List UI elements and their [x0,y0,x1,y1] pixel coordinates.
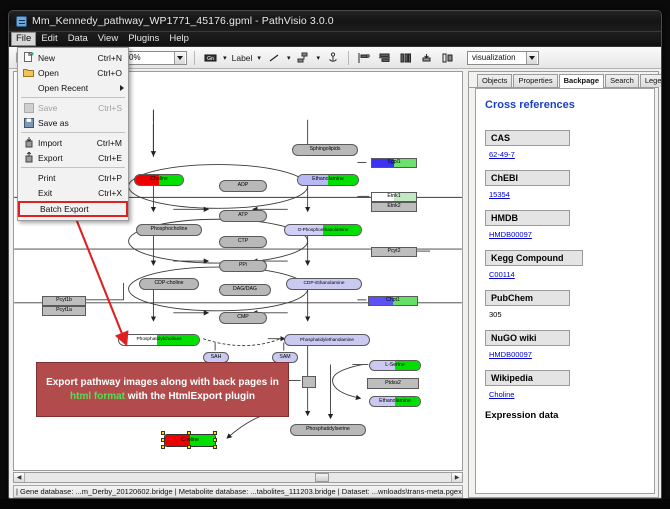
label-dropdown-icon[interactable]: ▾ [257,54,261,62]
menu-item-save-as-label: Save as [35,118,122,128]
node-pemt[interactable] [302,376,316,388]
gene-product-dropdown-icon[interactable]: ▾ [223,54,227,62]
node-pcyt1b[interactable]: Pcyt1b [42,296,86,306]
menu-item-exit-label: Exit [35,188,98,198]
menu-data[interactable]: Data [63,32,93,46]
status-text: | Gene database: ...m_Derby_20120602.bri… [16,487,462,496]
export-icon [22,152,35,163]
node-choline-bottom[interactable]: Choline [164,434,216,447]
side-panel: Objects Properties Backpage Search Legen… [468,71,659,498]
menu-item-print[interactable]: Print Ctrl+P [18,170,128,185]
node-label: Pcyt1b [56,298,72,303]
window-title: Mm_Kennedy_pathway_WP1771_45176.gpml - P… [32,15,334,27]
node-pcyt1a[interactable]: Pcyt1a [42,306,86,316]
scrollbar-thumb[interactable] [315,473,329,482]
annotation-highlight: html format [70,391,125,402]
node-phosphatidylserine[interactable]: Phosphatidylserine [290,424,366,436]
node-phosphatidylcholines[interactable]: Phosphatidylcholines [118,334,200,346]
interaction-dropdown-icon[interactable]: ▾ [316,54,320,62]
node-label: SAH [211,355,222,360]
annotation-text: Export pathway images along with back pa… [43,376,282,402]
node-chpt1[interactable]: Chpt1 [368,296,418,306]
scroll-right-icon[interactable]: ▶ [451,473,462,482]
align-left-icon[interactable] [356,50,372,66]
node-label: PPi [239,263,247,268]
scroll-left-icon[interactable]: ◀ [14,473,25,482]
menu-item-open[interactable]: Open Ctrl+O [18,65,128,80]
xref-source-kegg-compound: Kegg Compound [485,250,583,266]
node-label: Phosphatidylcholines [136,338,181,343]
menu-item-export[interactable]: Export Ctrl+E [18,150,128,165]
menu-item-save-label: Save [35,103,98,113]
menu-item-new[interactable]: New Ctrl+N [18,50,128,65]
menu-item-save-as[interactable]: Save as [18,115,128,130]
expression-data-title: Expression data [485,410,645,421]
node-label: Choline [150,177,168,182]
cross-references-title: Cross references [485,99,645,111]
node-ppi[interactable]: PPi [219,260,267,272]
label-tool-label: Label [232,53,253,63]
save-icon [22,103,35,113]
xref-source-nugo-wiki: NuGO wiki [485,330,570,346]
chevron-down-icon[interactable] [526,52,537,64]
node-label: Ethanolamine [312,177,344,182]
xref-source-wikipedia: Wikipedia [485,370,570,386]
node-label: CTP [238,239,248,244]
menu-edit[interactable]: Edit [36,32,62,46]
xref-source-pubchem: PubChem [485,290,570,306]
node-label: Phosphatidylserine [306,427,350,432]
save-as-icon [22,118,35,128]
menu-item-batch-export-label: Batch Export [37,204,122,214]
menu-item-open-accel: Ctrl+O [97,68,124,78]
menu-item-exit-accel: Ctrl+X [98,188,124,198]
node-label: Ethanolamine [379,399,411,404]
visualization-combo[interactable]: visualization [467,51,539,65]
tab-backpage[interactable]: Backpage [559,74,604,88]
node-l-serine[interactable]: L-Serine [369,360,421,371]
menu-item-print-label: Print [35,173,98,183]
chevron-down-icon[interactable] [174,52,185,64]
toolbar-separator [348,51,349,65]
xref-source-cas: CAS [485,130,570,146]
menu-separator [21,167,125,168]
xref-value-cas[interactable]: 62-49-7 [489,150,645,159]
tab-search[interactable]: Search [605,74,639,87]
distribute-icon[interactable] [398,50,414,66]
gene-product-icon[interactable]: Gn [202,50,218,66]
xref-value-pubchem: 305 [489,310,645,319]
node-label: O-Phosphoethanolamine [298,228,349,233]
node-sgpl1[interactable]: Sgpl1 [371,158,417,168]
node-ctp[interactable]: CTP [219,236,267,248]
anchor-icon[interactable] [325,50,341,66]
node-ptdss2[interactable]: Ptdss2 [367,378,419,389]
node-label: SAM [279,355,290,360]
node-phosphatidylethanolamine[interactable]: Phosphatidylethanolamine [284,334,370,346]
xref-value-chebi[interactable]: 15354 [489,190,645,199]
pathvisio-icon [16,16,27,27]
node-label: Sphingolipids [310,147,341,152]
tab-legend[interactable]: Legend [640,74,662,87]
node-phosphocholine[interactable]: Phosphocholine [136,224,202,236]
menu-file[interactable]: File [11,32,36,46]
node-label: Chpt1 [386,298,400,303]
stack-icon[interactable] [419,50,435,66]
menu-item-save: Save Ctrl+S [18,100,128,115]
align-center-icon[interactable] [377,50,393,66]
node-cdp-ethanolamine[interactable]: CDP-Ethanolamine [286,278,362,290]
menu-item-export-label: Export [35,153,98,163]
node-ethanolamine-bottom[interactable]: Ethanolamine [369,396,421,407]
toolbar-separator [194,51,195,65]
xref-source-hmdb: HMDB [485,210,570,226]
menu-item-batch-export[interactable]: Batch Export [18,201,128,217]
node-atp[interactable]: ATP [219,210,267,222]
node-ethanolamine-top[interactable]: Ethanolamine [297,174,359,186]
interaction-icon[interactable] [295,50,311,66]
node-dag[interactable]: DAG/DAG [219,284,271,296]
node-label: Pcyt1a [56,308,72,313]
menu-item-import[interactable]: Import Ctrl+M [18,135,128,150]
xref-value-nugo-wiki[interactable]: HMDB00097 [489,350,645,359]
backpage-content: Cross references CAS 62-49-7 ChEBI 15354… [475,88,655,494]
xref-value-wikipedia[interactable]: Choline [489,390,645,399]
line-dropdown-icon[interactable]: ▾ [287,54,291,62]
xref-value-kegg-compound[interactable]: C00114 [489,270,645,279]
menu-item-import-label: Import [35,138,97,148]
node-choline-top[interactable]: Choline [134,174,184,186]
node-label: Etnk1 [387,194,400,199]
node-label: Etnk2 [387,204,400,209]
node-label: Choline [181,438,199,443]
node-label: Phosphocholine [151,227,188,232]
menu-item-exit[interactable]: Exit Ctrl+X [18,185,128,200]
menu-help[interactable]: Help [164,32,194,46]
xref-source-chebi: ChEBI [485,170,570,186]
tab-objects[interactable]: Objects [477,74,512,87]
svg-text:Gn: Gn [207,55,214,61]
tab-properties[interactable]: Properties [513,74,557,87]
node-sphingolipids[interactable]: Sphingolipids [292,144,358,156]
annotation-callout: Export pathway images along with back pa… [36,362,289,417]
group-icon[interactable] [440,50,456,66]
menu-item-new-label: New [35,53,98,63]
menu-item-new-accel: Ctrl+N [98,53,124,63]
new-file-icon [22,52,35,63]
node-label: DAG/DAG [233,287,257,292]
screenshot-root: Mm_Kennedy_pathway_WP1771_45176.gpml - P… [0,0,670,509]
menu-view[interactable]: View [93,32,123,46]
node-etnk1[interactable]: Etnk1 [371,192,417,202]
import-icon [22,137,35,148]
side-panel-tabs: Objects Properties Backpage Search Legen… [469,74,658,88]
annotation-text-after: with the HtmlExport plugin [125,391,255,402]
visualization-value: visualization [472,53,526,62]
menu-item-print-accel: Ctrl+P [98,173,124,183]
xref-value-hmdb[interactable]: HMDB00097 [489,230,645,239]
file-menu-dropdown: New Ctrl+N Open Ctrl+O Open Recent Save [17,47,129,221]
menu-item-save-accel: Ctrl+S [98,103,124,113]
node-o-phosphoethanolamine[interactable]: O-Phosphoethanolamine [284,224,362,236]
annotation-text-before: Export pathway images along with back pa… [46,377,279,388]
desktop-background [0,499,670,509]
node-adp[interactable]: ADP [219,180,267,192]
node-label: Phosphatidylethanolamine [300,338,354,343]
node-label: Ptdss2 [385,381,401,386]
node-cdp-choline[interactable]: CDP-choline [139,278,199,290]
menu-plugins[interactable]: Plugins [123,32,164,46]
node-label: L-Serine [385,363,405,368]
application-window: Mm_Kennedy_pathway_WP1771_45176.gpml - P… [8,10,662,499]
menu-item-open-recent-label: Open Recent [35,83,124,93]
menu-item-open-recent[interactable]: Open Recent [18,80,128,95]
node-label: ADP [238,183,249,188]
node-label: CDP-Ethanolamine [303,282,344,287]
line-icon[interactable] [266,50,282,66]
menu-separator [21,132,125,133]
menu-item-import-accel: Ctrl+M [97,138,124,148]
menu-item-open-label: Open [35,68,97,78]
node-label: Sgpl1 [387,160,400,165]
node-pcyt2[interactable]: Pcyt2 [371,247,417,257]
title-bar: Mm_Kennedy_pathway_WP1771_45176.gpml - P… [9,11,661,32]
node-label: CDP-choline [154,281,183,286]
node-label: Pcyt2 [388,249,401,254]
status-bar: | Gene database: ...m_Derby_20120602.bri… [13,485,463,498]
node-cmp[interactable]: CMP [219,312,267,324]
node-label: ATP [238,213,248,218]
canvas-horizontal-scrollbar[interactable]: ◀ ▶ [13,472,463,483]
menu-item-export-accel: Ctrl+E [98,153,124,163]
menu-separator [21,97,125,98]
menu-bar: File Edit Data View Plugins Help [9,32,661,47]
node-etnk2[interactable]: Etnk2 [371,202,417,212]
folder-icon [22,67,35,78]
node-label: CMP [237,315,249,320]
